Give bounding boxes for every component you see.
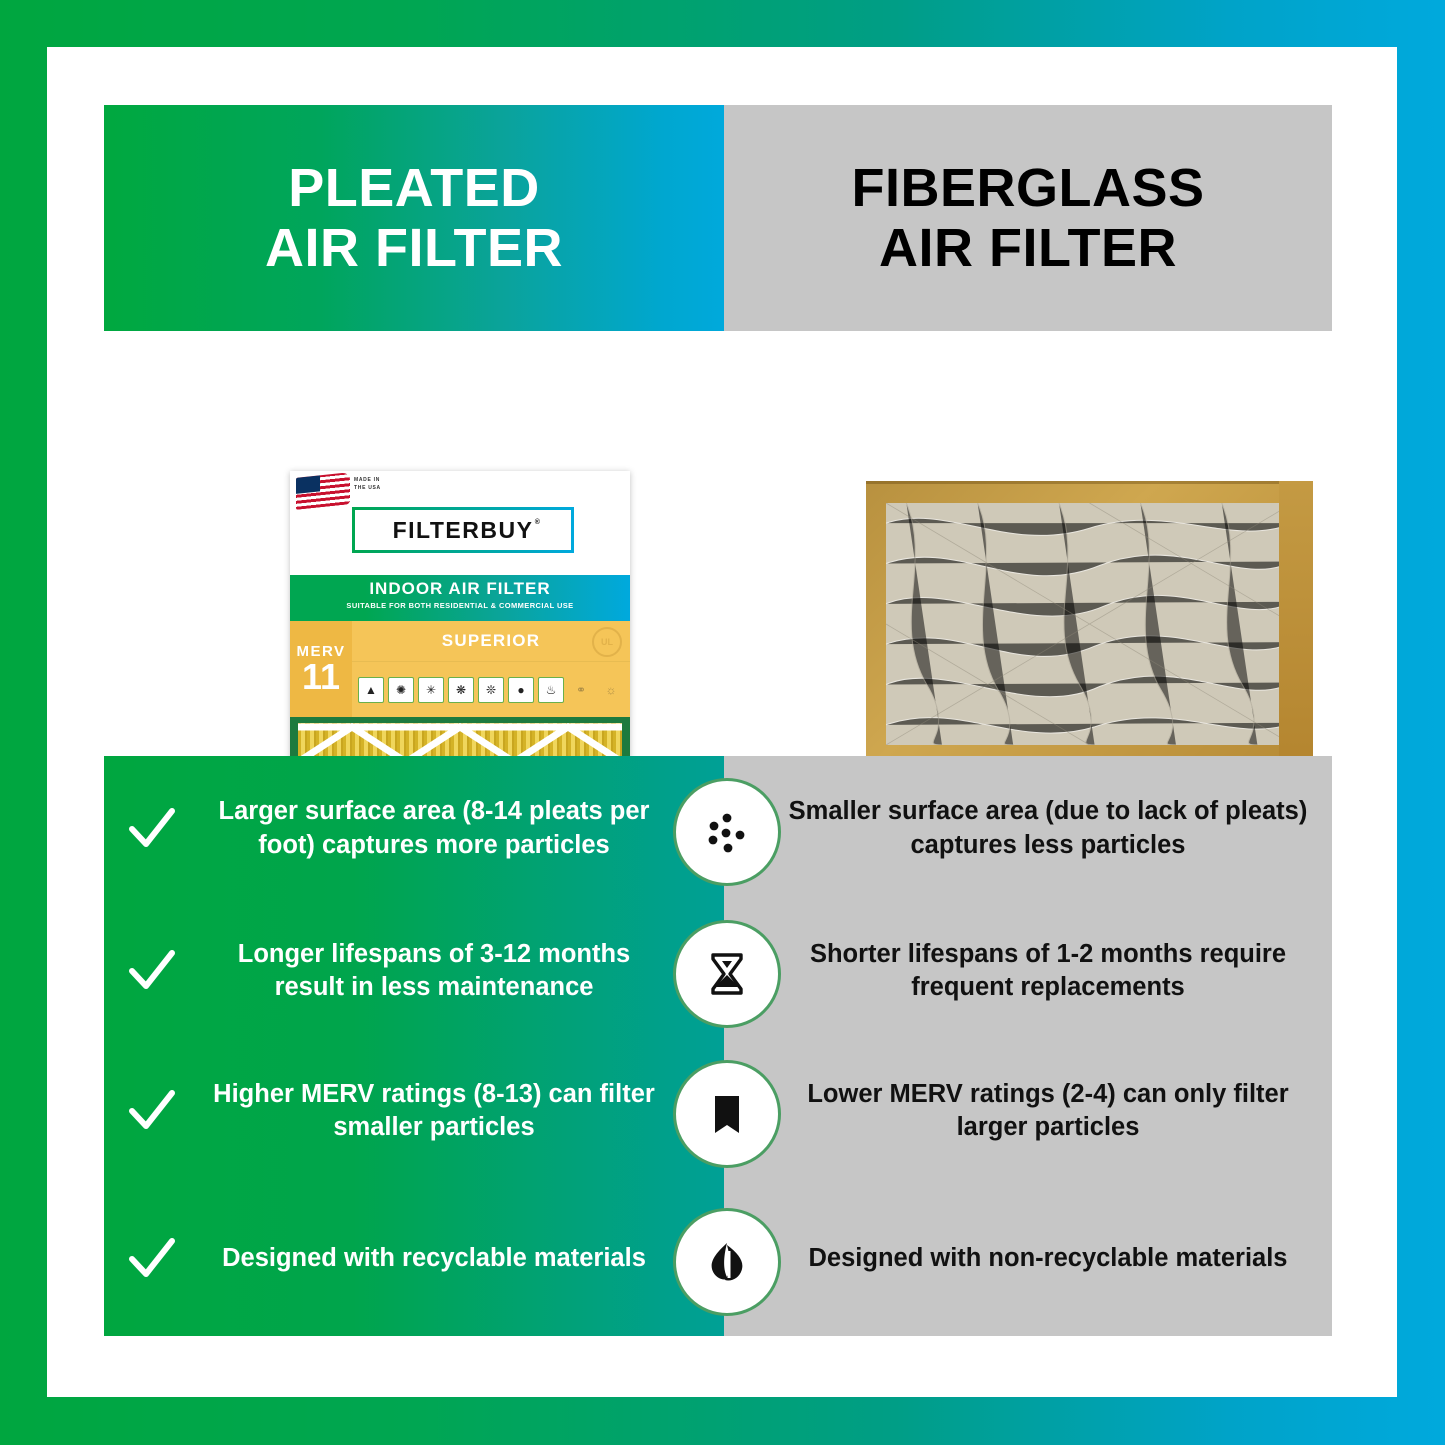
- feature-icon-strip: ▲ ✺ ✳ ❋ ❊ ● ♨ ⚭ ☼: [352, 662, 630, 717]
- particles-icon: [673, 778, 781, 886]
- product-spec-right: SUPERIOR UL ▲ ✺ ✳ ❋ ❊ ● ♨: [352, 621, 630, 717]
- merv-value: 11: [290, 660, 352, 694]
- frame-right-edge: [1279, 481, 1313, 767]
- fiberglass-header-line1: FIBERGLASS: [851, 158, 1204, 218]
- virus-icon: ✳: [418, 677, 444, 703]
- product-box-top: MADE IN THE USA FILTERBUY®: [290, 471, 630, 575]
- row-left-text: Designed with recyclable materials: [200, 1242, 668, 1275]
- row-right-cell: Designed with non-recyclable materials: [724, 1242, 1332, 1275]
- checkmark-icon: [104, 945, 200, 997]
- comparison-row: Larger surface area (8-14 pleats per foo…: [104, 756, 1332, 901]
- ul-certification-icon: UL: [592, 627, 622, 657]
- row-right-text: Lower MERV ratings (2-4) can only filter…: [780, 1078, 1316, 1144]
- white-card: PLEATED AIR FILTER FIBERGLASS AIR FILTER: [47, 47, 1397, 1397]
- dust-icon: ▲: [358, 677, 384, 703]
- filterbuy-logo-box: FILTERBUY®: [352, 507, 574, 553]
- row-left-text: Longer lifespans of 3-12 months result i…: [200, 938, 668, 1004]
- pleated-header-line1: PLEATED: [265, 158, 563, 218]
- row-left-cell: Larger surface area (8-14 pleats per foo…: [104, 795, 724, 861]
- comparison-row: Designed with recyclable materials: [104, 1181, 1332, 1336]
- infographic-content: PLEATED AIR FILTER FIBERGLASS AIR FILTER: [104, 105, 1332, 1336]
- usa-flag-icon: [296, 472, 350, 510]
- pleated-column-header: PLEATED AIR FILTER: [104, 105, 724, 331]
- tier-row: SUPERIOR UL: [352, 621, 630, 662]
- row-left-cell: Longer lifespans of 3-12 months result i…: [104, 938, 724, 1004]
- product-images-row: MADE IN THE USA FILTERBUY® INDOOR AIR FI…: [104, 331, 1332, 756]
- made-in-usa-label: MADE IN THE USA: [354, 477, 381, 492]
- pet-dander-icon: ●: [508, 677, 534, 703]
- filterbuy-logo-text: FILTERBUY®: [393, 517, 534, 544]
- made-in-line2: THE USA: [354, 485, 381, 493]
- fiberglass-header-title: FIBERGLASS AIR FILTER: [851, 158, 1204, 279]
- band-title: INDOOR AIR FILTER: [290, 579, 630, 599]
- row-left-text: Higher MERV ratings (8-13) can filter sm…: [200, 1078, 668, 1144]
- row-left-cell: Designed with recyclable materials: [104, 1233, 724, 1285]
- fiberglass-column-header: FIBERGLASS AIR FILTER: [724, 105, 1332, 331]
- made-in-line1: MADE IN: [354, 477, 381, 485]
- bug-icon: ✺: [388, 677, 414, 703]
- product-band: INDOOR AIR FILTER SUITABLE FOR BOTH RESI…: [290, 575, 630, 621]
- registered-mark: ®: [535, 519, 542, 526]
- checkmark-icon: [104, 803, 200, 855]
- frame-seam: [866, 481, 1313, 484]
- hourglass-icon: [673, 920, 781, 1028]
- spore-icon: ❊: [478, 677, 504, 703]
- column-headers: PLEATED AIR FILTER FIBERGLASS AIR FILTER: [104, 105, 1332, 331]
- gradient-border-frame: PLEATED AIR FILTER FIBERGLASS AIR FILTER: [0, 0, 1445, 1445]
- odor-icon-faded: ⚭: [568, 677, 594, 703]
- row-left-cell: Higher MERV ratings (8-13) can filter sm…: [104, 1078, 724, 1144]
- row-right-cell: Shorter lifespans of 1-2 months require …: [724, 938, 1332, 1004]
- fiberglass-header-line2: AIR FILTER: [851, 218, 1204, 278]
- row-left-text: Larger surface area (8-14 pleats per foo…: [200, 795, 668, 861]
- comparison-table: Larger surface area (8-14 pleats per foo…: [104, 756, 1332, 1336]
- bookmark-icon: [673, 1060, 781, 1168]
- smoke-icon-faded: ☼: [598, 677, 624, 703]
- checkmark-icon: [104, 1233, 200, 1285]
- product-spec-strip: MERV 11 SUPERIOR UL ▲ ✺ ✳: [290, 621, 630, 717]
- row-right-text: Smaller surface area (due to lack of ple…: [780, 795, 1316, 861]
- fiberglass-media: [886, 503, 1293, 745]
- brand-word: FILTERBUY: [393, 517, 534, 543]
- smoke-icon: ♨: [538, 677, 564, 703]
- tier-label: SUPERIOR: [442, 631, 540, 651]
- fiberglass-product-image: [866, 481, 1313, 767]
- band-subtitle: SUITABLE FOR BOTH RESIDENTIAL & COMMERCI…: [290, 601, 630, 610]
- pollen-icon: ❋: [448, 677, 474, 703]
- pleated-header-title: PLEATED AIR FILTER: [265, 158, 563, 279]
- comparison-row: Longer lifespans of 3-12 months result i…: [104, 901, 1332, 1041]
- row-right-text: Shorter lifespans of 1-2 months require …: [780, 938, 1316, 1004]
- comparison-row: Higher MERV ratings (8-13) can filter sm…: [104, 1041, 1332, 1181]
- row-right-cell: Lower MERV ratings (2-4) can only filter…: [724, 1078, 1332, 1144]
- leaf-icon: [673, 1208, 781, 1316]
- checkmark-icon: [104, 1085, 200, 1137]
- pleated-header-line2: AIR FILTER: [265, 218, 563, 278]
- merv-block: MERV 11: [290, 621, 352, 717]
- row-right-text: Designed with non-recyclable materials: [809, 1242, 1288, 1275]
- row-right-cell: Smaller surface area (due to lack of ple…: [724, 795, 1332, 861]
